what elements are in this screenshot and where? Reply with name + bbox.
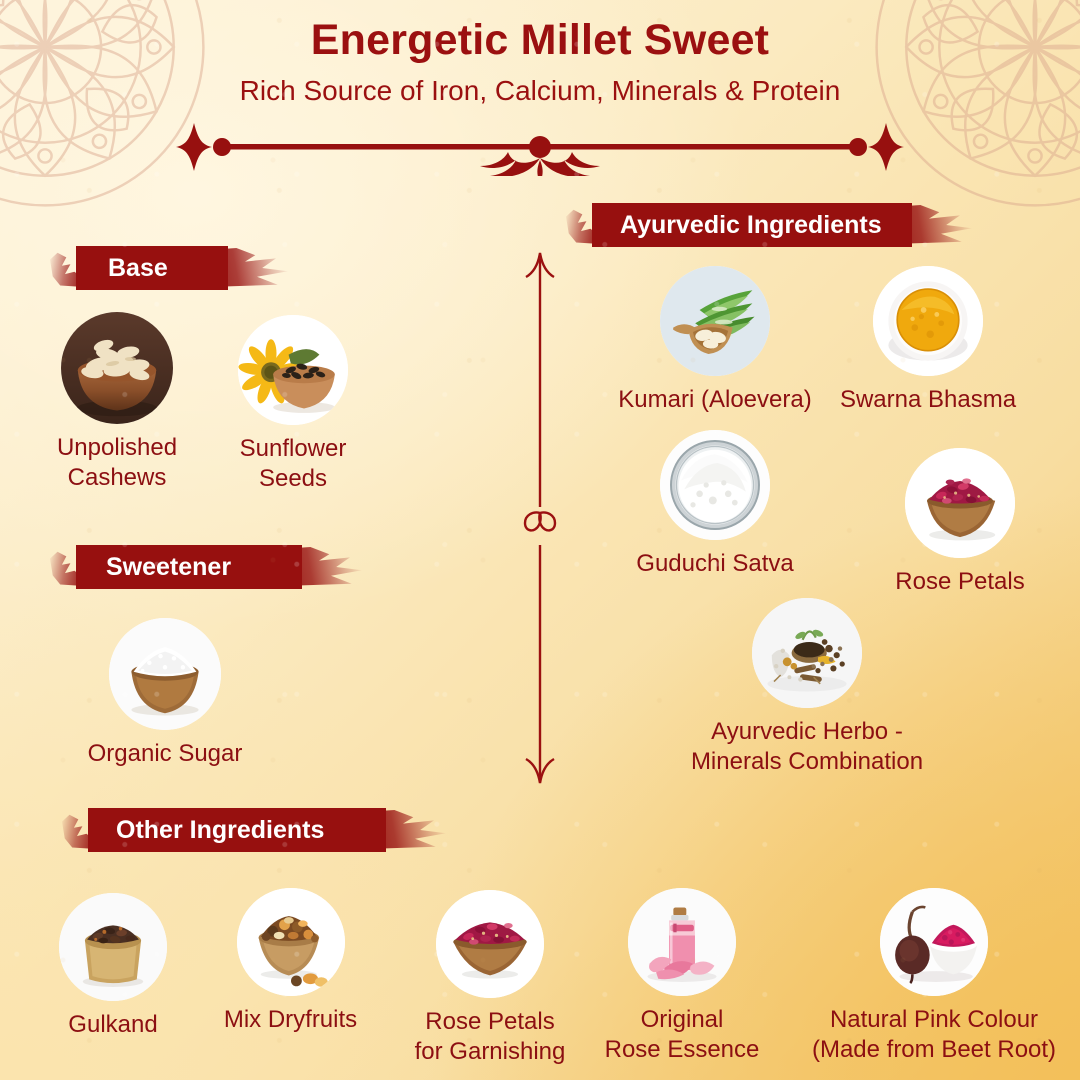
vertical-double-arrow-divider — [513, 245, 567, 790]
section-banner-base: Base — [76, 246, 228, 290]
section-label-base: Base — [76, 254, 168, 283]
dryfruits-bowl-image — [237, 888, 345, 996]
turmeric-powder-bowl-image — [873, 266, 983, 376]
ingredient-original-rose-essence: Original Rose Essence — [602, 888, 762, 1065]
white-powder-jar-image — [660, 430, 770, 540]
ingredient-unpolished-cashews: Unpolished Cashews — [42, 312, 192, 493]
herbs-minerals-image — [752, 598, 862, 708]
ingredient-label: Original Rose Essence — [602, 1005, 762, 1065]
ingredient-swarna-bhasma: Swarna Bhasma — [838, 266, 1018, 415]
rose-petals-bowl-image — [905, 448, 1015, 558]
page-subtitle: Rich Source of Iron, Calcium, Minerals &… — [0, 66, 1080, 108]
ingredient-kumari-aloevera: Kumari (Aloevera) — [615, 266, 815, 415]
header: Energetic Millet Sweet Rich Source of Ir… — [0, 0, 1080, 107]
beetroot-powder-image — [880, 888, 988, 996]
rose-essence-bottle-image — [628, 888, 736, 996]
ingredient-ayurvedic-herbo-minerals: Ayurvedic Herbo - Minerals Combination — [652, 598, 962, 777]
ingredient-organic-sugar: Organic Sugar — [85, 618, 245, 769]
ingredient-label: Ayurvedic Herbo - Minerals Combination — [652, 717, 962, 777]
page-title: Energetic Millet Sweet — [0, 0, 1080, 66]
section-banner-ayurvedic: Ayurvedic Ingredients — [592, 203, 912, 247]
section-label-sweetener: Sweetener — [76, 553, 231, 582]
ingredient-label: Kumari (Aloevera) — [615, 385, 815, 415]
rose-petals-garnish-bowl-image — [436, 890, 544, 998]
ingredient-label: Organic Sugar — [85, 739, 245, 769]
header-divider-ornament — [160, 118, 920, 176]
ingredient-label: Rose Petals for Garnishing — [410, 1007, 570, 1067]
section-banner-other: Other Ingredients — [88, 808, 386, 852]
ingredient-label: Rose Petals — [870, 567, 1050, 597]
ingredient-label: Guduchi Satva — [625, 549, 805, 579]
ingredient-rose-petals-garnishing: Rose Petals for Garnishing — [410, 890, 570, 1067]
ingredient-label: Mix Dryfruits — [218, 1005, 363, 1035]
aloevera-image — [660, 266, 770, 376]
ingredient-label: Unpolished Cashews — [42, 433, 192, 493]
ingredient-rose-petals: Rose Petals — [870, 448, 1050, 597]
section-label-other: Other Ingredients — [88, 816, 324, 845]
ingredient-gulkand: Gulkand — [38, 893, 188, 1040]
cashew-bowl-image — [61, 312, 173, 424]
infographic-page: Energetic Millet Sweet Rich Source of Ir… — [0, 0, 1080, 1080]
ingredient-natural-pink-colour: Natural Pink Colour (Made from Beet Root… — [800, 888, 1068, 1065]
section-label-ayurvedic: Ayurvedic Ingredients — [592, 211, 882, 240]
section-banner-sweetener: Sweetener — [76, 545, 302, 589]
sunflower-seeds-bowl-image — [238, 315, 348, 425]
ingredient-sunflower-seeds: Sunflower Seeds — [218, 315, 368, 494]
sugar-bowl-image — [109, 618, 221, 730]
ingredient-mix-dryfruits: Mix Dryfruits — [218, 888, 363, 1035]
ingredient-label: Natural Pink Colour (Made from Beet Root… — [800, 1005, 1068, 1065]
ingredient-label: Swarna Bhasma — [838, 385, 1018, 415]
gulkand-bowl-image — [59, 893, 167, 1001]
ingredient-label: Sunflower Seeds — [218, 434, 368, 494]
ingredient-label: Gulkand — [38, 1010, 188, 1040]
ingredient-guduchi-satva: Guduchi Satva — [625, 430, 805, 579]
